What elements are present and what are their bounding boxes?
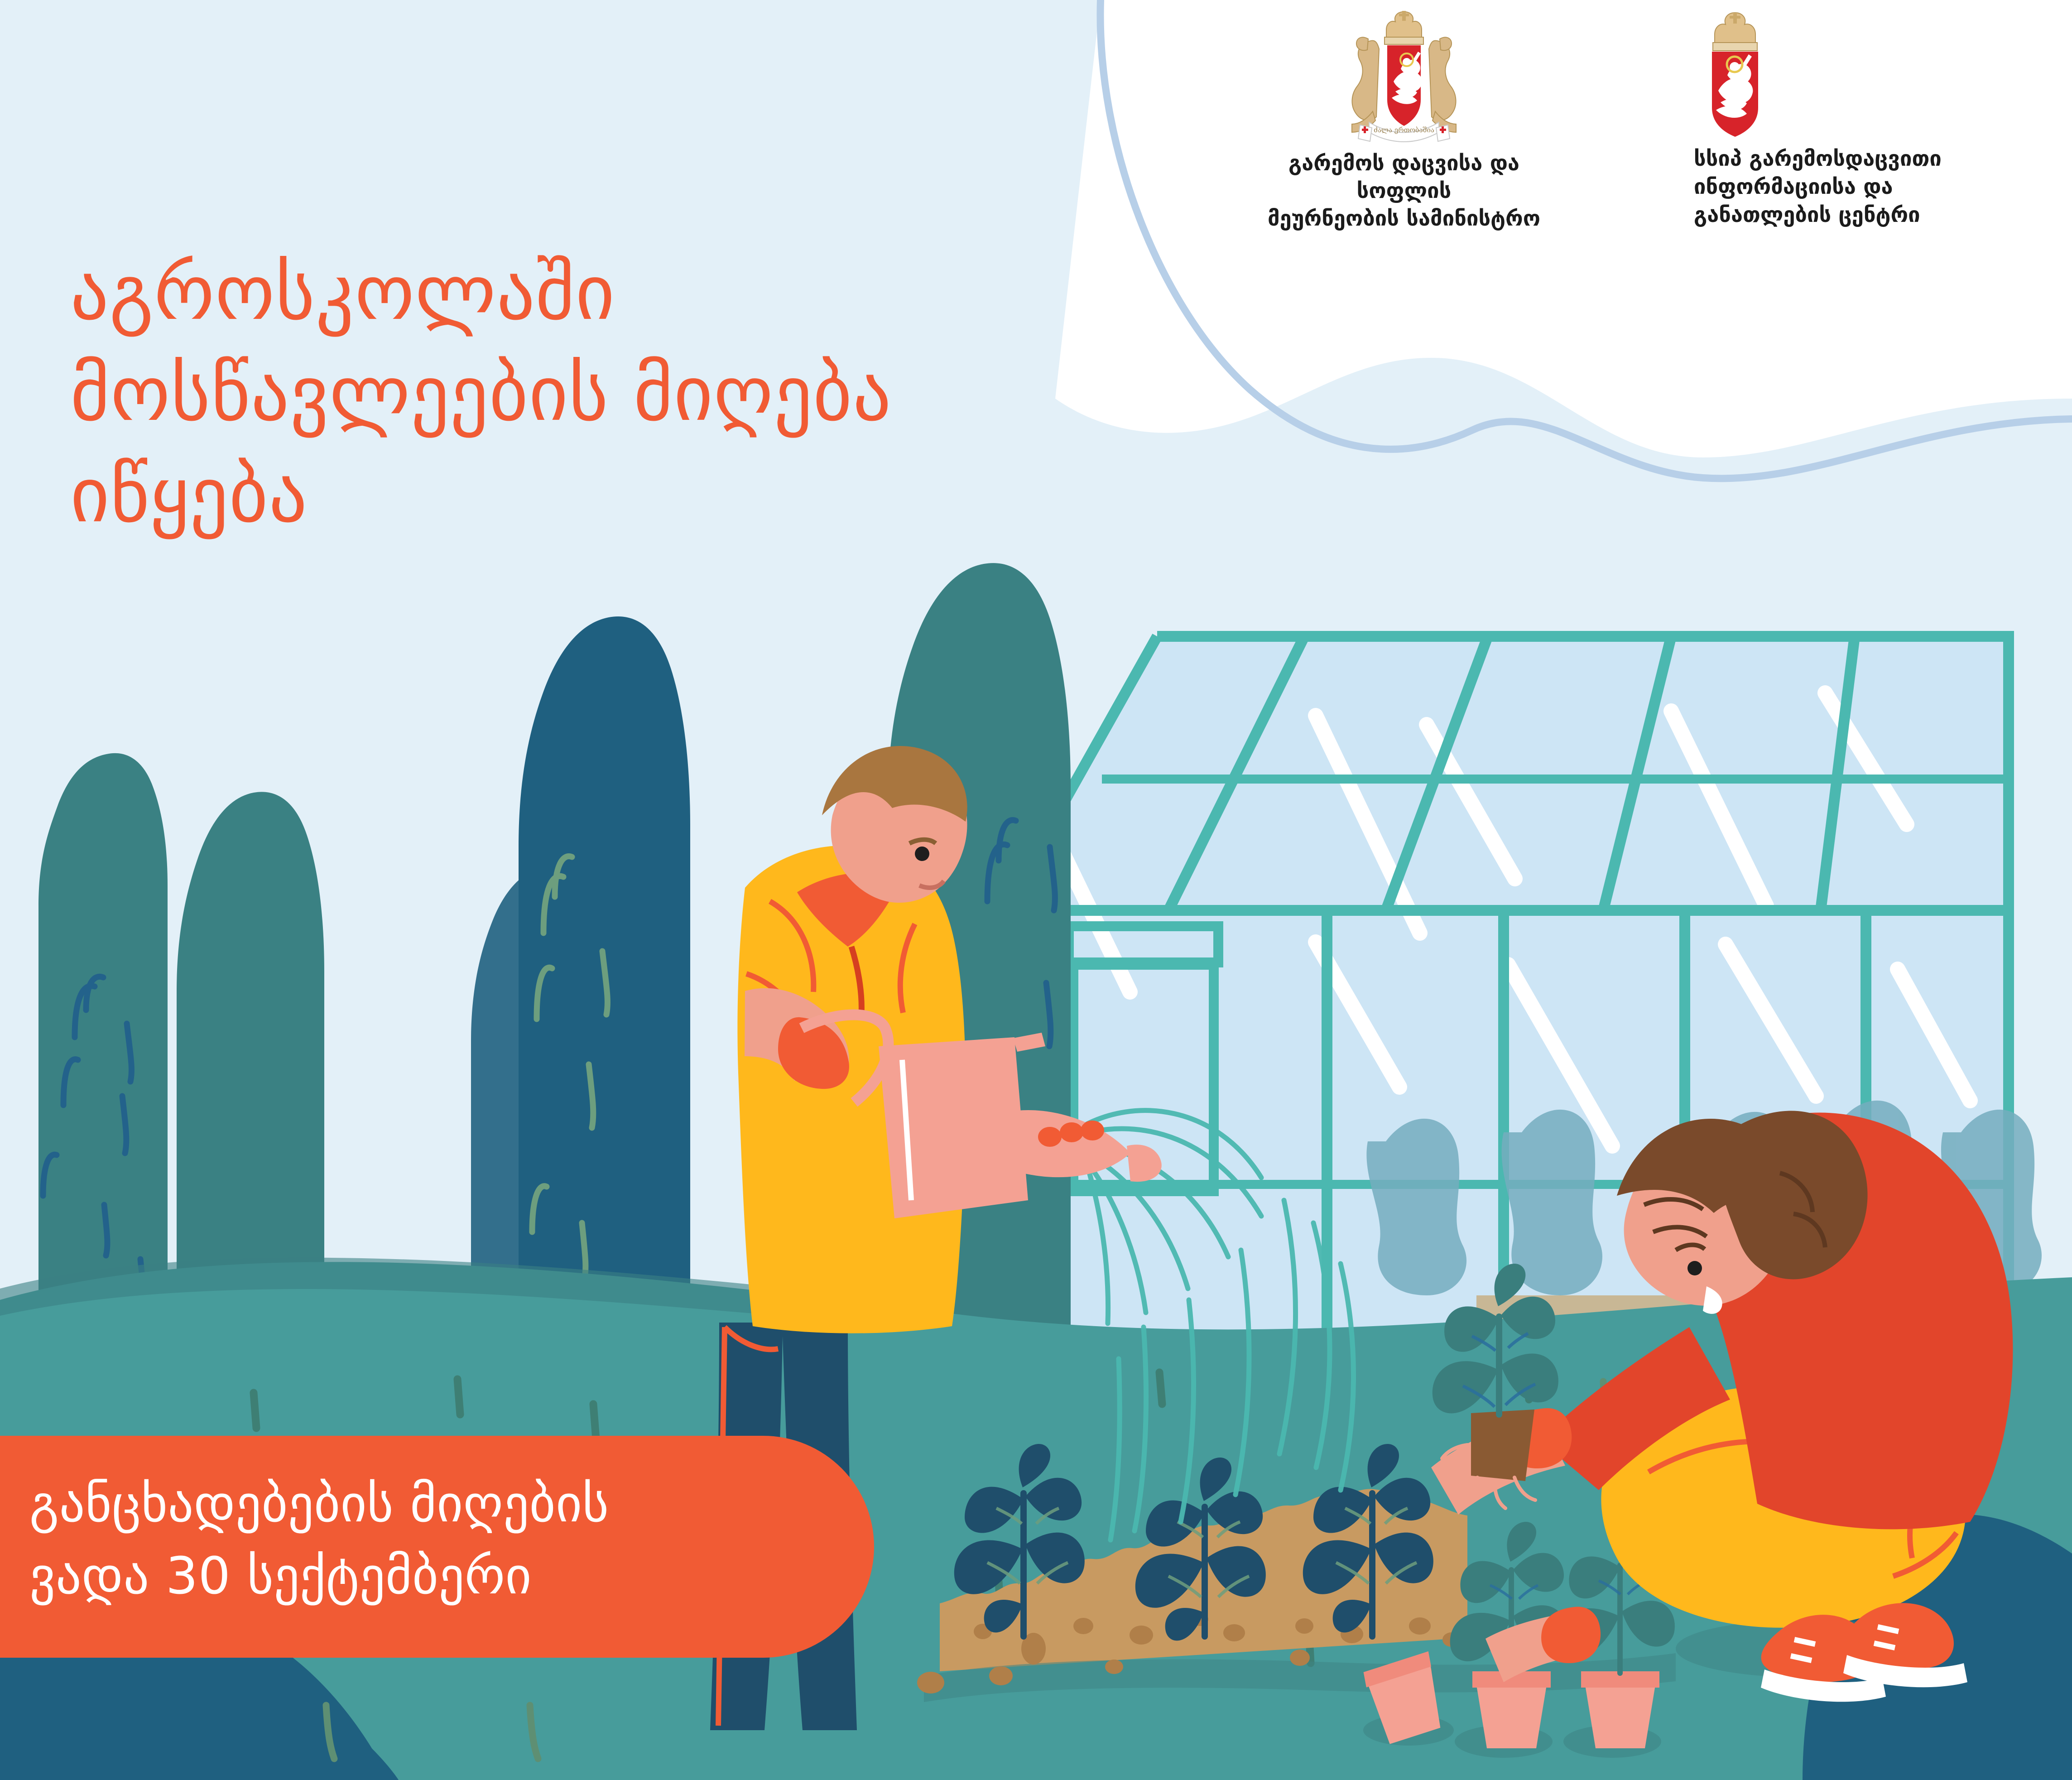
ministry-logo-caption: გარემოს დაცვისა და სოფლის მეურნეობის სამ… — [1241, 149, 1567, 232]
poster-canvas: ძალა ერთობაშია გარემოს დაცვისა და სოფლის… — [0, 0, 2072, 1780]
center-logo-caption: სსიპ გარემოსდაცვითი ინფორმაციისა და განა… — [1694, 145, 2011, 229]
deadline-banner: განცხადებების მიღების ვადა 30 სექტემბერი — [0, 1436, 874, 1658]
cypress-tree-1 — [38, 753, 168, 1354]
man-eye — [915, 847, 929, 861]
georgia-lesser-coat-of-arms-icon — [1697, 9, 1774, 145]
georgia-greater-coat-of-arms-icon: ძალა ერთობაშია — [1343, 9, 1465, 149]
root-ball — [1471, 1410, 1534, 1481]
deadline-banner-text: განცხადებების მიღების ვადა 30 სექტემბერი — [29, 1468, 874, 1612]
woman-eye — [1687, 1261, 1702, 1275]
crown — [1385, 11, 1423, 44]
ministry-logo-block: ძალა ერთობაშია გარემოს დაცვისა და სოფლის… — [1241, 9, 1567, 232]
page-title: აგროსკოლაში მოსწავლეების მიღება იწყება — [70, 242, 1293, 546]
svg-text:ძალა ერთობაშია: ძალა ერთობაშია — [1374, 126, 1434, 134]
crown — [1713, 13, 1757, 51]
center-logo-block: სსიპ გარემოსდაცვითი ინფორმაციისა და განა… — [1694, 9, 2011, 229]
